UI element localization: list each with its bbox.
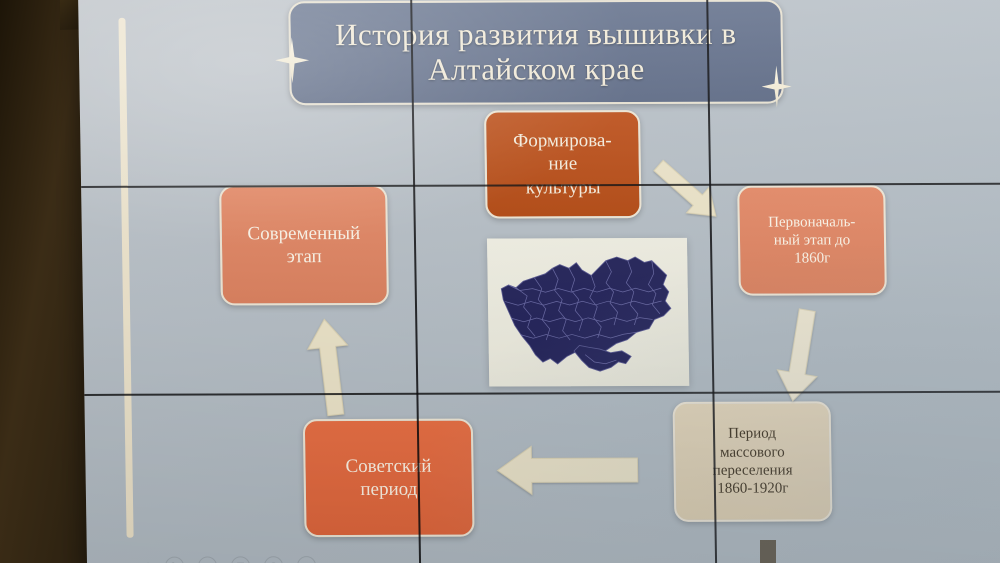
panel-seam-horizontal-2 (84, 391, 1000, 396)
cycle-node-pervonachalnyy-etap[interactable]: Первоначаль- ный этап до 1860г (737, 185, 887, 296)
cycle-node-formirovanie-kultury[interactable]: Формирова- ние культуры (484, 110, 642, 219)
toolbar-zoom-icon[interactable]: ⊕ (264, 556, 283, 563)
presentation-toolbar[interactable]: ✎ ✒ ▦ ⊕ ⋯ (145, 553, 405, 563)
cycle-node-line-3: переселения (713, 461, 793, 480)
cycle-node-sovremennyy-etap[interactable]: Современный этап (219, 185, 389, 306)
cycle-node-line-1: Период (712, 425, 792, 444)
cycle-node-sovetskiy-period[interactable]: Советский период (303, 419, 475, 538)
screen-mount (760, 540, 776, 563)
arrow-left-icon (491, 440, 644, 501)
arrow-down-right-icon (643, 158, 732, 224)
decorative-stripe (118, 18, 133, 538)
toolbar-pointer-icon[interactable]: ✎ (165, 556, 184, 563)
cycle-node-line-1: Формирова- (513, 129, 612, 153)
altai-krai-map-image (487, 238, 689, 387)
room-wall-left (0, 0, 92, 563)
cycle-node-line-2: этап (248, 245, 361, 269)
cycle-node-line-3: 1860г (769, 249, 857, 268)
video-wall: История развития вышивки в Алтайском кра… (78, 0, 1000, 563)
toolbar-slides-icon[interactable]: ▦ (231, 556, 250, 563)
video-wall-surface: История развития вышивки в Алтайском кра… (78, 0, 1000, 563)
arrow-up-icon (299, 311, 361, 421)
cycle-node-line-4: 1860-1920г (713, 480, 793, 499)
cycle-node-line-3: культуры (514, 176, 613, 200)
cycle-node-line-2: массового (712, 443, 792, 462)
map-icon (495, 247, 681, 378)
toolbar-more-icon[interactable]: ⋯ (297, 556, 316, 563)
toolbar-pen-icon[interactable]: ✒ (198, 556, 217, 563)
cycle-node-line-2: ный этап до (768, 231, 856, 250)
screenshot-root: История развития вышивки в Алтайском кра… (0, 0, 1000, 563)
cycle-node-line-1: Современный (247, 222, 360, 246)
cycle-node-line-2: ние (513, 153, 612, 177)
cycle-node-period-massovogo-pereseleniya[interactable]: Период массового переселения 1860-1920г (673, 401, 833, 522)
cycle-node-line-1: Первоначаль- (768, 213, 856, 232)
